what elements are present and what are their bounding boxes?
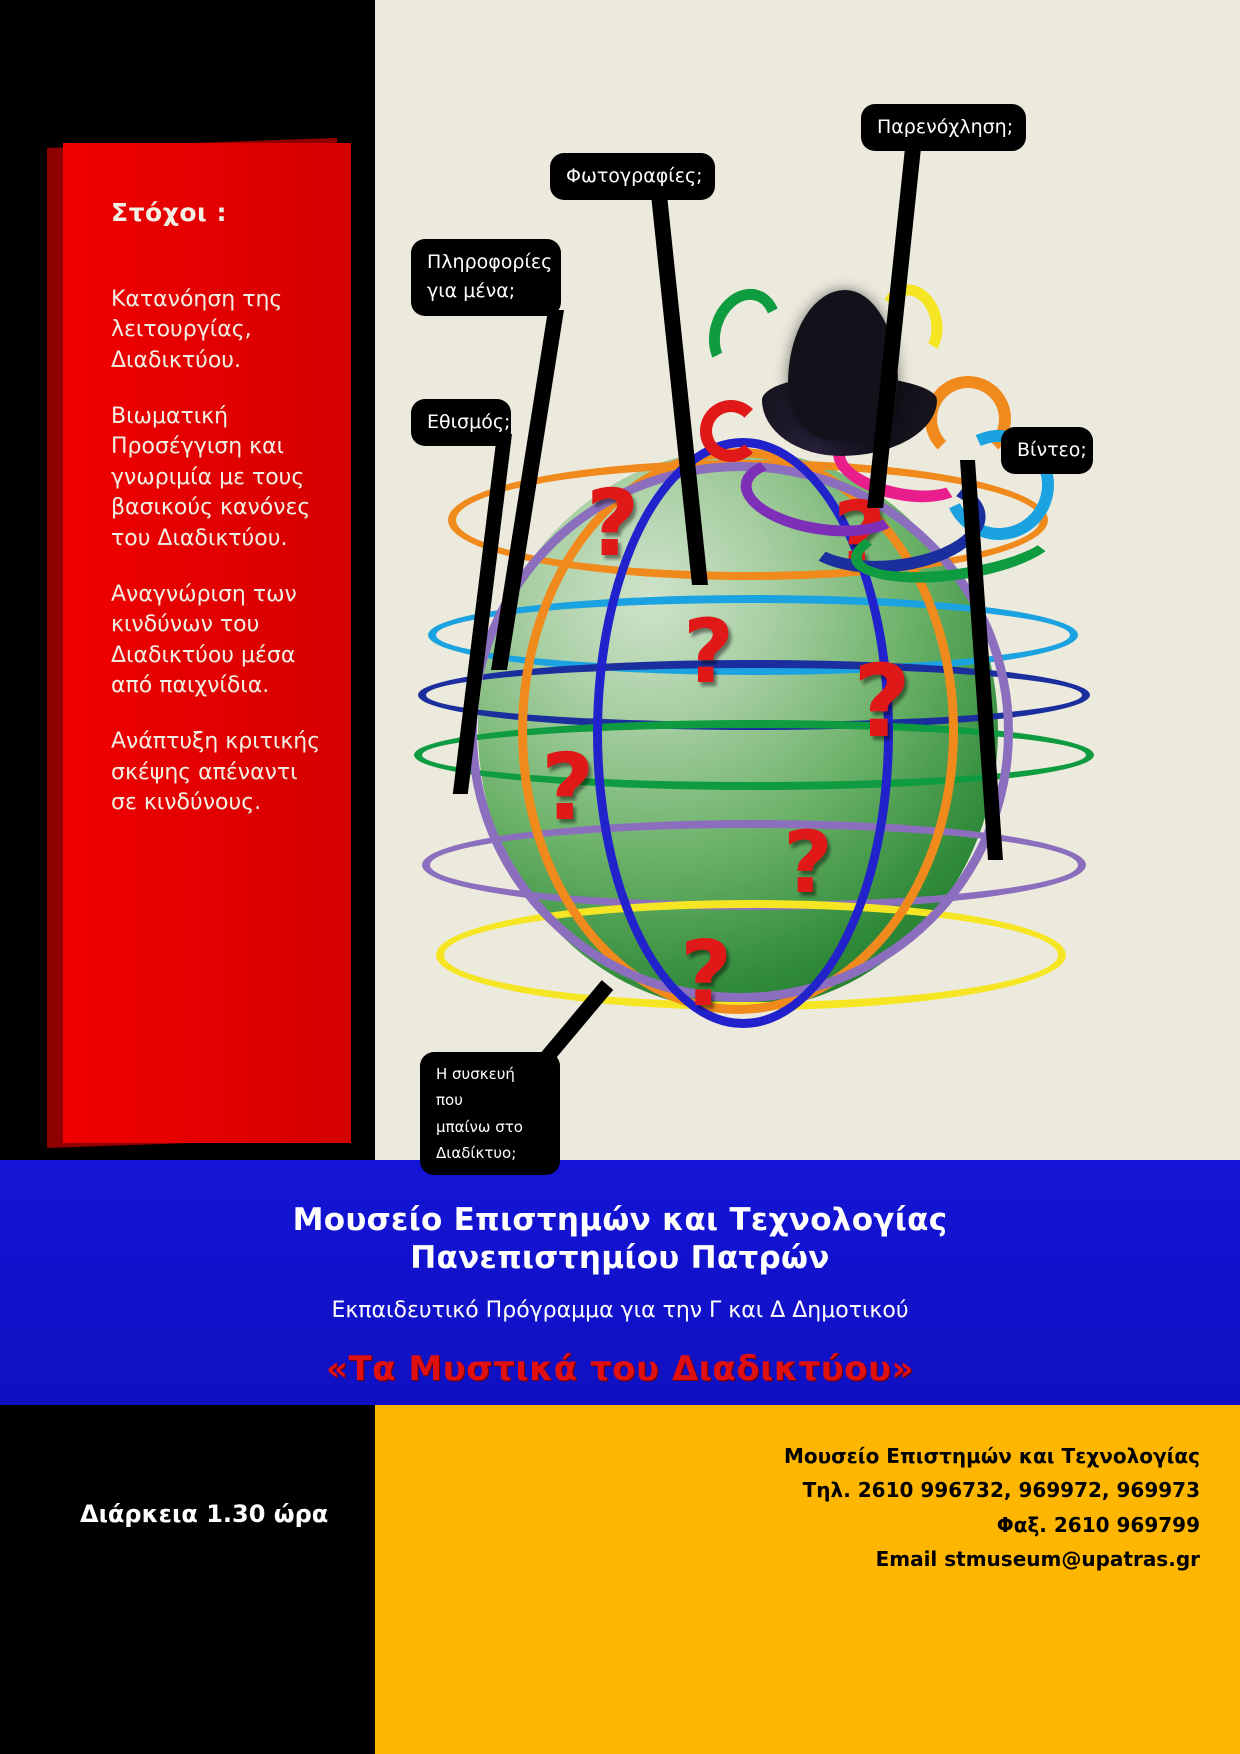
question-mark-icon: ? [783, 820, 833, 906]
goal-item: Ανάπτυξη κριτικής σκέψης απέναντι σε κιν… [111, 727, 327, 818]
question-mark-icon: ? [680, 930, 732, 1020]
contact-org: Μουσείο Επιστημών και Τεχνολογίας [375, 1439, 1200, 1473]
bubble-info[interactable]: Πληροφορίες για μένα; [411, 239, 561, 316]
question-mark-icon: ? [683, 608, 734, 696]
goal-item: Αναγνώριση των κινδύνων του Διαδικτύου μ… [111, 580, 327, 701]
organisation-name-line1: Μουσείο Επιστημών και Τεχνολογίας [0, 1160, 1240, 1238]
contact-block: Μουσείο Επιστημών και Τεχνολογίας Τηλ. 2… [375, 1405, 1240, 1754]
question-mark-icon: ? [853, 652, 911, 752]
program-subtitle: Εκπαιδευτικό Πρόγραμμα για την Γ και Δ Δ… [0, 1276, 1240, 1323]
goal-item: Κατανόηση της λειτουργίας, Διαδικτύου. [111, 285, 327, 376]
poster-root: Στόχοι : Κατανόηση της λειτουργίας, Διαδ… [0, 0, 1240, 1754]
goals-panel: Στόχοι : Κατανόηση της λειτουργίας, Διαδ… [63, 143, 351, 1143]
cable-curl-green [698, 279, 792, 386]
organisation-name-line2: Πανεπιστημίου Πατρών [0, 1238, 1240, 1276]
goal-item: Βιωματική Προσέγγιση και γνωριμία με του… [111, 402, 327, 554]
goals-title: Στόχοι : [111, 198, 327, 227]
duration-label: Διάρκεια 1.30 ώρα [80, 1500, 328, 1528]
program-title: «Τα Μυστικά του Διαδικτύου» [0, 1323, 1240, 1389]
cable-curl-red [700, 400, 762, 462]
organisation-band: Μουσείο Επιστημών και Τεχνολογίας Πανεπι… [0, 1160, 1240, 1405]
contact-fax: Φαξ. 2610 969799 [375, 1508, 1200, 1542]
footer-black-block [0, 1405, 375, 1754]
bubble-photos[interactable]: Φωτογραφίες; [550, 153, 715, 200]
contact-email[interactable]: Email stmuseum@upatras.gr [375, 1542, 1200, 1576]
question-mark-icon: ? [586, 478, 639, 570]
bubble-harassment[interactable]: Παρενόχληση; [861, 104, 1026, 151]
bubble-addiction[interactable]: Εθισμός; [411, 399, 511, 446]
bubble-video[interactable]: Βίντεο; [1001, 427, 1093, 474]
question-mark-icon: ? [541, 742, 594, 834]
bubble-device[interactable]: Η συσκευή που μπαίνω στο Διαδίκτυο; [420, 1052, 560, 1175]
contact-phone: Τηλ. 2610 996732, 969972, 969973 [375, 1473, 1200, 1507]
